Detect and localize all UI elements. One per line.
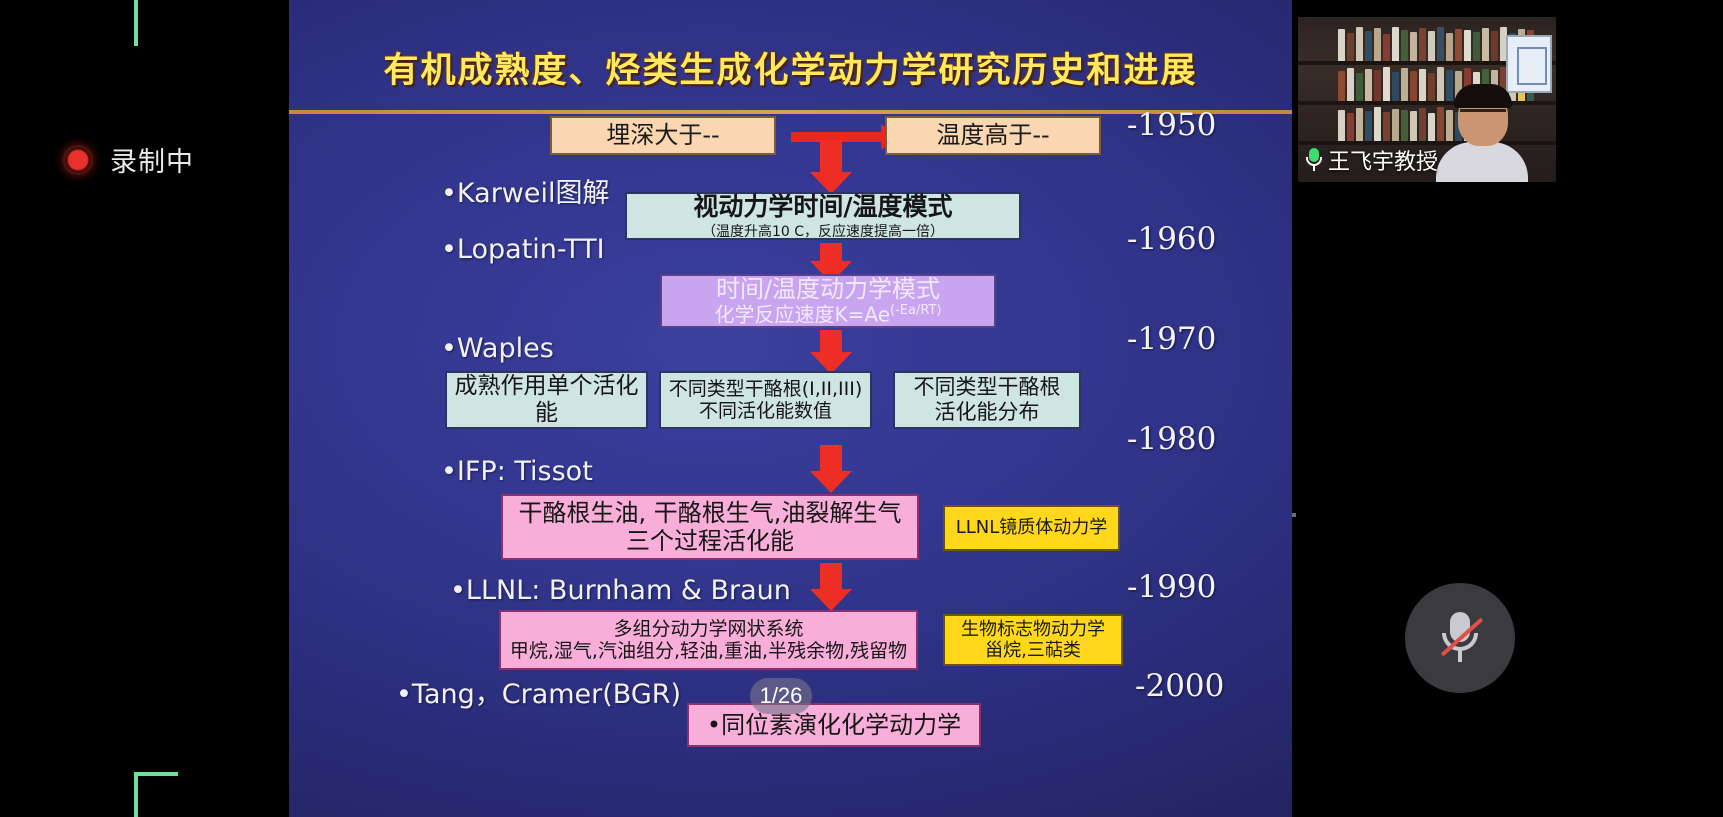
bullet-ifp-tissot: •IFP: Tissot	[441, 456, 593, 487]
participant-name-text: 王飞宇教授	[1328, 144, 1438, 176]
year-1990: -1990	[1127, 569, 1216, 605]
box-temperature-label: 温度高于--	[936, 121, 1049, 149]
year-2000: -2000	[1135, 668, 1224, 704]
box-kerogen-types-line2: 不同活化能数值	[699, 400, 832, 422]
box-apparent-kinetics: 视动力学时间/温度模式 （温度升高10 C，反应速度提高一倍）	[625, 192, 1021, 240]
box-kerogen-types: 不同类型干酪根(I,II,III) 不同活化能数值	[659, 371, 872, 429]
box-kerogen-distribution-line1: 不同类型干酪根	[914, 375, 1061, 400]
corner-bracket-top-left	[134, 0, 138, 46]
box-three-processes-line2: 三个过程活化能	[626, 527, 794, 555]
participant-avatar	[1436, 86, 1528, 182]
box-apparent-kinetics-title: 视动力学时间/温度模式	[693, 192, 952, 222]
box-biomarker-line2: 甾烷,三萜类	[985, 640, 1081, 661]
box-llnl-vitrinite-label: LLNL镜质体动力学	[956, 517, 1108, 538]
box-isotope: •同位素演化化学动力学	[687, 703, 981, 747]
box-multicomponent-line2: 甲烷,湿气,汽油组分,轻油,重油,半残余物,残留物	[510, 640, 907, 662]
recording-indicator: 录制中	[63, 140, 194, 179]
box-three-processes: 干酪根生油, 干酪根生气,油裂解生气 三个过程活化能	[501, 494, 919, 560]
right-panel: 王飞宇教授	[1292, 0, 1723, 817]
microphone-muted-icon	[1438, 609, 1482, 667]
arrow-down-4	[810, 445, 852, 493]
box-depth: 埋深大于--	[550, 116, 776, 155]
bullet-tang-cramer: •Tang，Cramer(BGR)	[396, 672, 681, 711]
box-multicomponent-line1: 多组分动力学网状系统	[613, 618, 803, 640]
corner-bracket-bottom-left-vertical	[134, 772, 138, 817]
left-panel: 录制中	[0, 0, 318, 817]
participant-glasses	[1460, 109, 1506, 120]
mute-button[interactable]	[1405, 583, 1515, 693]
year-1950: -1950	[1127, 107, 1216, 143]
panel-marker-dot	[1292, 513, 1296, 517]
arrow-down-5	[810, 563, 852, 611]
box-apparent-kinetics-subtitle: （温度升高10 C，反应速度提高一倍）	[702, 224, 944, 241]
box-time-temp-kinetics: 时间/温度动力学模式 化学反应速度K=Ae(-Ea/RT)	[660, 274, 996, 328]
box-time-temp-formula: 化学反应速度K=Ae	[715, 303, 891, 327]
box-kerogen-types-line1: 不同类型干酪根(I,II,III)	[669, 378, 863, 400]
record-dot-icon	[63, 145, 93, 175]
box-single-activation-label: 成熟作用单个活化能	[447, 373, 646, 427]
box-llnl-vitrinite: LLNL镜质体动力学	[943, 505, 1120, 551]
box-single-activation: 成熟作用单个活化能	[445, 371, 648, 429]
bullet-waples: •Waples	[441, 333, 554, 364]
participant-body	[1436, 142, 1528, 182]
year-1960: -1960	[1127, 221, 1216, 257]
year-1970: -1970	[1127, 321, 1216, 357]
box-time-temp-title: 时间/温度动力学模式	[716, 275, 940, 303]
meeting-screen: 录制中 有机成熟度、烃类生成化学动力学研究历史和进展 埋深大于-- 温度高于--…	[0, 0, 1723, 817]
recording-label: 录制中	[110, 140, 194, 179]
presentation-slide[interactable]: 有机成熟度、烃类生成化学动力学研究历史和进展 埋深大于-- 温度高于-- 视动力…	[289, 0, 1292, 817]
arrow-down-3	[810, 330, 852, 372]
arrow-down-1	[810, 140, 852, 194]
box-biomarker-line1: 生物标志物动力学	[961, 619, 1105, 640]
page-indicator: 1/26	[750, 678, 812, 714]
box-depth-label: 埋深大于--	[606, 121, 719, 149]
microphone-on-icon	[1306, 148, 1322, 172]
bullet-llnl-burnham-braun: •LLNL: Burnham & Braun	[450, 575, 791, 606]
corner-bracket-bottom-left-horizontal	[134, 772, 178, 776]
participant-video-tile[interactable]: 王飞宇教授	[1298, 17, 1556, 182]
background-monitor	[1506, 35, 1552, 93]
bullet-lopatin: •Lopatin-TTI	[441, 234, 605, 265]
box-three-processes-line1: 干酪根生油, 干酪根生气,油裂解生气	[519, 499, 902, 527]
slide-title: 有机成熟度、烃类生成化学动力学研究历史和进展	[289, 42, 1292, 93]
bookshelf-row-1	[1338, 25, 1534, 61]
box-kerogen-distribution: 不同类型干酪根 活化能分布	[893, 371, 1081, 429]
year-1980: -1980	[1127, 421, 1216, 457]
participant-hair	[1454, 84, 1512, 108]
participant-name-label: 王飞宇教授	[1306, 144, 1438, 176]
bullet-karweil: •Karweil图解	[441, 171, 610, 210]
box-time-temp-formula-exponent: (-Ea/RT)	[890, 303, 941, 318]
box-isotope-label: •同位素演化化学动力学	[707, 711, 961, 739]
box-multicomponent: 多组分动力学网状系统 甲烷,湿气,汽油组分,轻油,重油,半残余物,残留物	[499, 610, 918, 670]
box-temperature: 温度高于--	[885, 116, 1101, 155]
box-kerogen-distribution-line2: 活化能分布	[935, 400, 1040, 425]
box-biomarker: 生物标志物动力学 甾烷,三萜类	[943, 614, 1123, 666]
